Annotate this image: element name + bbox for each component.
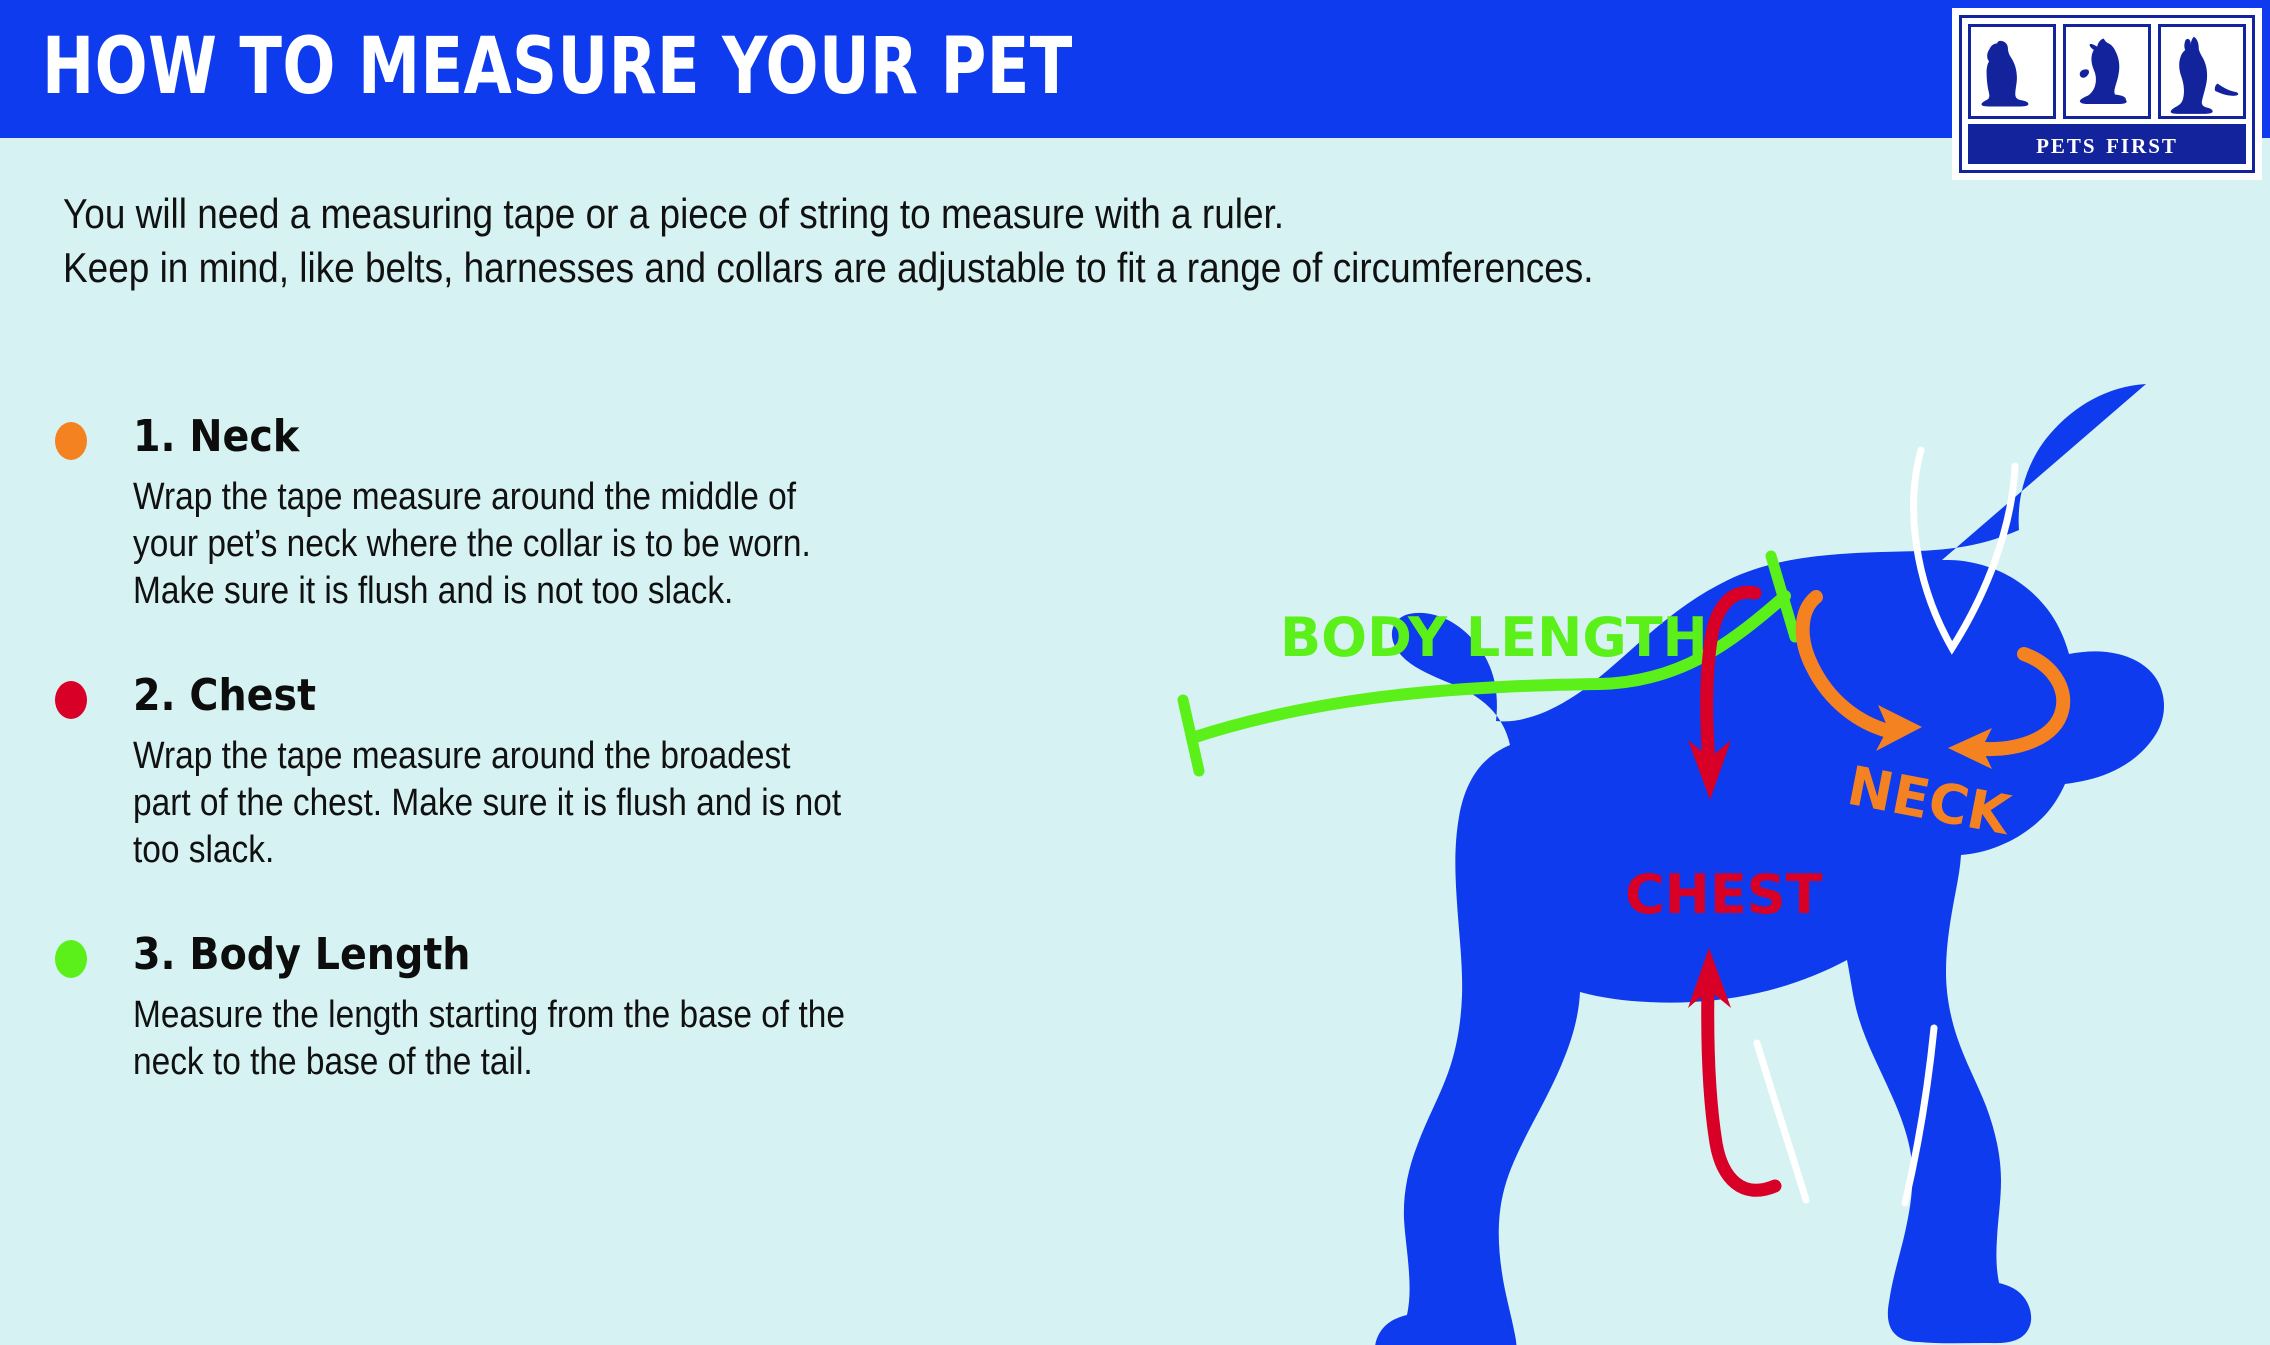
step-body-neck: Wrap the tape measure around the middle … <box>133 474 828 615</box>
step-body-line: your pet’s neck where the collar is to b… <box>133 521 828 568</box>
dog-shepherd-icon <box>2161 27 2243 116</box>
logo-panel-1 <box>1968 24 2056 119</box>
logo-wordmark-banner: PETS FIRST <box>1968 124 2246 165</box>
step-title-chest: 2. Chest <box>133 671 963 721</box>
bullet-neck <box>55 422 87 460</box>
step-chest: 2. Chest Wrap the tape measure around th… <box>55 671 1055 874</box>
chest-arrow-up <box>1708 985 1775 1190</box>
intro-line-1: You will need a measuring tape or a piec… <box>63 187 1612 241</box>
step-body-line: Measure the length starting from the bas… <box>133 992 828 1039</box>
logo-wordmark: PETS FIRST <box>2036 127 2178 161</box>
label-body-length: BODY LENGTH <box>1280 606 1708 669</box>
dog-measurement-diagram: BODY LENGTH NECK CHEST <box>1000 348 2270 1345</box>
step-body-body-length: Measure the length starting from the bas… <box>133 992 828 1086</box>
logo-panel-3 <box>2158 24 2246 119</box>
step-body-line: neck to the base of the tail. <box>133 1039 828 1086</box>
bullet-body-length <box>55 940 87 978</box>
step-body-line: part of the chest. Make sure it is flush… <box>133 780 828 827</box>
intro-text: You will need a measuring tape or a piec… <box>63 187 1612 295</box>
page-title: HOW TO MEASURE YOUR PET <box>42 24 1073 110</box>
logo-panel-2 <box>2063 24 2151 119</box>
label-chest: CHEST <box>1625 863 1823 926</box>
step-neck: 1. Neck Wrap the tape measure around the… <box>55 412 1055 615</box>
measurement-steps: 1. Neck Wrap the tape measure around the… <box>55 412 1055 1142</box>
step-body-line: Wrap the tape measure around the middle … <box>133 474 828 521</box>
step-body-line: too slack. <box>133 827 828 874</box>
step-body-line: Make sure it is flush and is not too sla… <box>133 568 828 615</box>
step-title-neck: 1. Neck <box>133 412 963 462</box>
step-body-line: Wrap the tape measure around the broades… <box>133 733 828 780</box>
brand-logo: PETS FIRST <box>1952 8 2262 180</box>
dog-sitting-icon <box>1971 27 2053 116</box>
step-title-body-length: 3. Body Length <box>133 930 963 980</box>
step-body-chest: Wrap the tape measure around the broades… <box>133 733 828 874</box>
logo-frame: PETS FIRST <box>1959 15 2255 173</box>
step-body-length: 3. Body Length Measure the length starti… <box>55 930 1055 1086</box>
dog-begging-icon <box>2066 27 2148 116</box>
bullet-chest <box>55 681 87 719</box>
logo-panels <box>1968 24 2246 119</box>
intro-line-2: Keep in mind, like belts, harnesses and … <box>63 241 1612 295</box>
